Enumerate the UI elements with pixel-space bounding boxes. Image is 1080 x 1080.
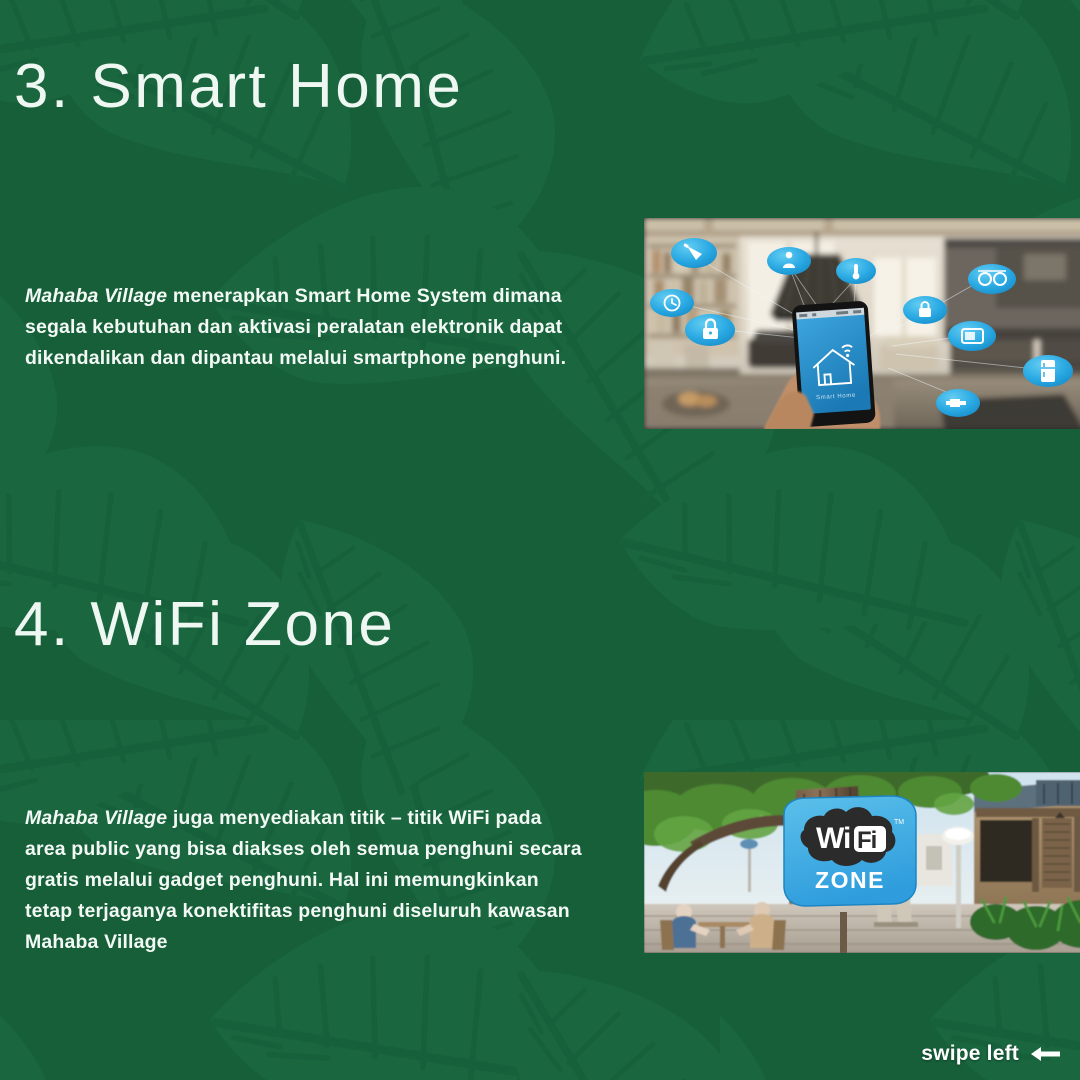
swipe-left-label: swipe left xyxy=(921,1042,1019,1066)
smart-home-photo: Smart Home xyxy=(644,218,1080,429)
section-heading-wifi-zone: 4. WiFi Zone xyxy=(14,594,395,656)
brand-name-emphasis: Mahaba Village xyxy=(25,807,167,829)
badge-tv xyxy=(948,321,996,351)
badge-washing-machine xyxy=(968,264,1016,294)
left-arrow-icon xyxy=(1028,1045,1062,1063)
badge-refrigerator xyxy=(1023,355,1073,387)
section-heading-smart-home: 3. Smart Home xyxy=(14,56,463,118)
badge-power-plug xyxy=(936,389,980,417)
badge-shower xyxy=(767,247,811,275)
badge-thermometer xyxy=(836,258,876,284)
svg-text:Fi: Fi xyxy=(857,827,876,854)
brand-name-emphasis: Mahaba Village xyxy=(25,285,167,307)
wifi-zone-photo: Wi Fi TM ZONE xyxy=(644,772,1080,953)
badge-clock xyxy=(650,289,694,317)
section-body-smart-home: Mahaba Village menerapkan Smart Home Sys… xyxy=(25,281,585,374)
svg-text:ZONE: ZONE xyxy=(815,867,885,893)
swipe-left-indicator[interactable]: swipe left xyxy=(921,1042,1062,1066)
svg-text:TM: TM xyxy=(894,819,904,826)
section-body-wifi-zone: Mahaba Village juga menyediakan titik – … xyxy=(25,803,585,958)
slide-canvas: 3. Smart Home Mahaba Village menerapkan … xyxy=(0,0,1080,1080)
svg-text:Wi: Wi xyxy=(816,822,850,855)
badge-lamp xyxy=(671,238,717,268)
badge-door-lock xyxy=(903,296,947,324)
badge-padlock xyxy=(685,314,735,346)
